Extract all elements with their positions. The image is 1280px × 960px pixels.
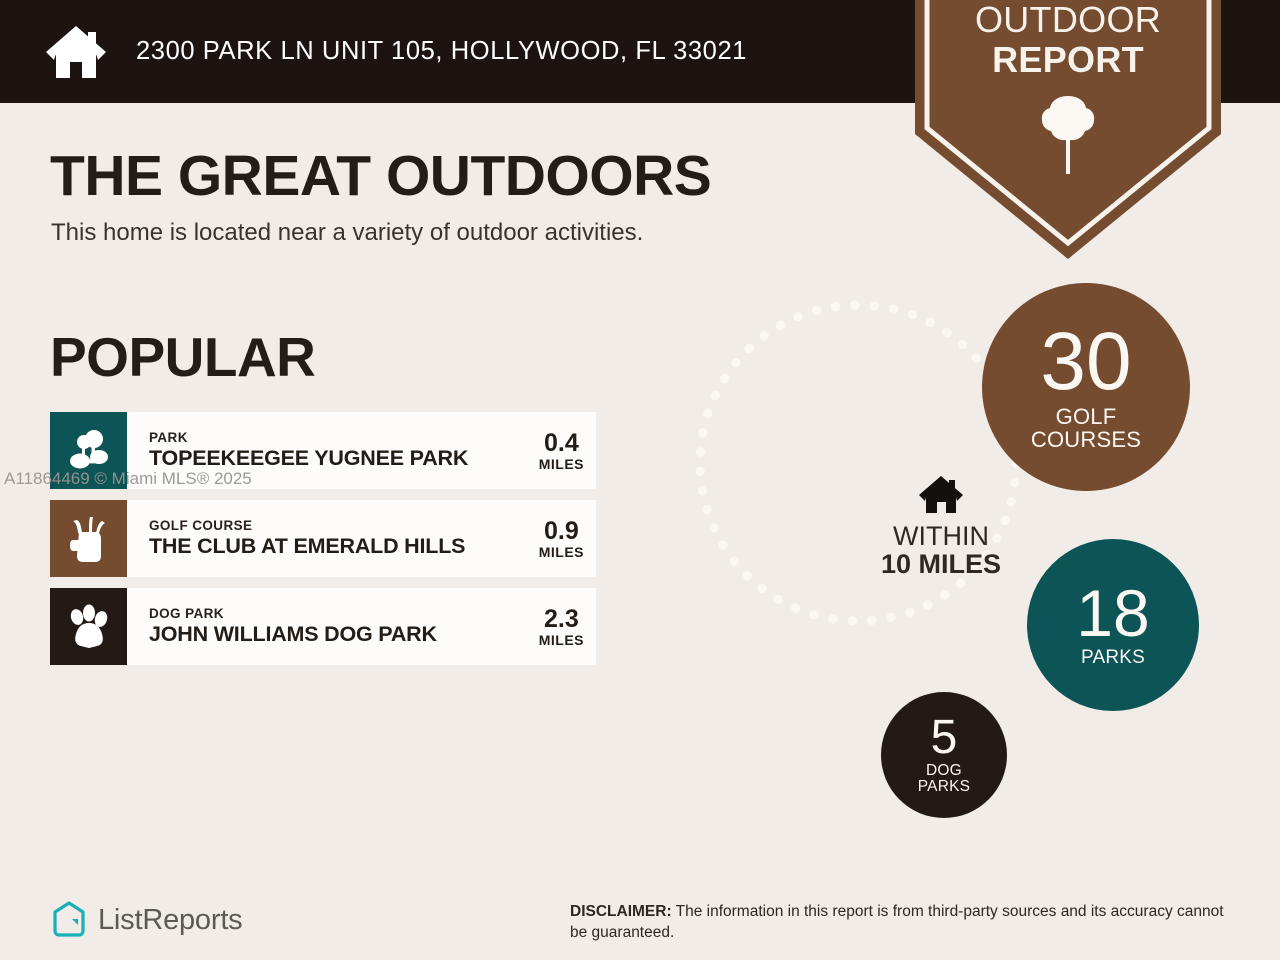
within-radius-block: WITHIN 10 MILES [856,475,1026,580]
list-item-texts: DOG PARK JOHN WILLIAMS DOG PARK [149,607,437,646]
list-item-texts: PARK TOPEEKEEGEE YUGNEE PARK [149,431,468,470]
stat-label-line2: PARKS [918,779,970,795]
disclaimer-label: DISCLAIMER: [570,903,672,920]
disclaimer: DISCLAIMER: The information in this repo… [570,902,1230,944]
page-subtitle: This home is located near a variety of o… [51,219,643,247]
list-item-distance: 0.9 MILES [529,519,584,559]
list-item[interactable]: PARK TOPEEKEEGEE YUGNEE PARK 0.4 MILES [50,412,596,489]
stat-value: 18 [1076,582,1149,645]
section-title-popular: POPULAR [50,325,315,389]
within-label: WITHIN [856,522,1026,550]
stat-circle-golf-courses[interactable]: 30 GOLF COURSES [982,283,1190,491]
list-item-body: DOG PARK JOHN WILLIAMS DOG PARK 2.3 MILE… [127,588,596,665]
list-item-name: TOPEEKEEGEE YUGNEE PARK [149,447,468,470]
page-title: THE GREAT OUTDOORS [50,143,711,209]
golf-bag-icon [50,500,127,577]
list-item-name: THE CLUB AT EMERALD HILLS [149,535,465,558]
paw-print-icon [50,588,127,665]
stat-label-line2: COURSES [1031,428,1141,451]
listreports-brand-name: ListReports [98,904,242,937]
list-item-category: PARK [149,431,468,445]
outdoor-stats-diagram: WITHIN 10 MILES 30 GOLF COURSES 18 PARKS… [660,270,1220,840]
list-item-category: GOLF COURSE [149,519,465,533]
stat-label-line1: GOLF [1056,405,1117,428]
distance-unit: MILES [539,545,584,559]
stat-label-line1: DOG [926,763,962,779]
list-item-distance: 0.4 MILES [529,431,584,471]
list-item-body: PARK TOPEEKEEGEE YUGNEE PARK 0.4 MILES [127,412,596,489]
list-item[interactable]: GOLF COURSE THE CLUB AT EMERALD HILLS 0.… [50,500,596,577]
stat-label-line1: PARKS [1081,648,1145,668]
distance-value: 0.9 [539,519,584,544]
distance-unit: MILES [539,457,584,471]
home-icon [44,24,108,80]
list-item[interactable]: DOG PARK JOHN WILLIAMS DOG PARK 2.3 MILE… [50,588,596,665]
stat-value: 30 [1040,323,1131,401]
distance-unit: MILES [539,633,584,647]
outdoor-report-badge: OUTDOOR REPORT [915,0,1221,259]
home-icon [856,475,1026,515]
stat-value: 5 [931,715,958,761]
stat-circle-parks[interactable]: 18 PARKS [1027,539,1199,711]
radius-label: 10 MILES [856,550,1026,579]
distance-value: 2.3 [539,607,584,632]
park-trees-icon [50,412,127,489]
property-address: 2300 PARK LN UNIT 105, HOLLYWOOD, FL 330… [136,37,747,66]
popular-list: PARK TOPEEKEEGEE YUGNEE PARK 0.4 MILES [50,412,596,676]
list-item-body: GOLF COURSE THE CLUB AT EMERALD HILLS 0.… [127,500,596,577]
stat-circle-dog-parks[interactable]: 5 DOG PARKS [881,692,1007,818]
list-item-name: JOHN WILLIAMS DOG PARK [149,623,437,646]
list-item-category: DOG PARK [149,607,437,621]
list-item-distance: 2.3 MILES [529,607,584,647]
distance-value: 0.4 [539,431,584,456]
list-item-texts: GOLF COURSE THE CLUB AT EMERALD HILLS [149,519,465,558]
listreports-house-icon [52,901,86,939]
listreports-logo[interactable]: ListReports [52,901,242,939]
